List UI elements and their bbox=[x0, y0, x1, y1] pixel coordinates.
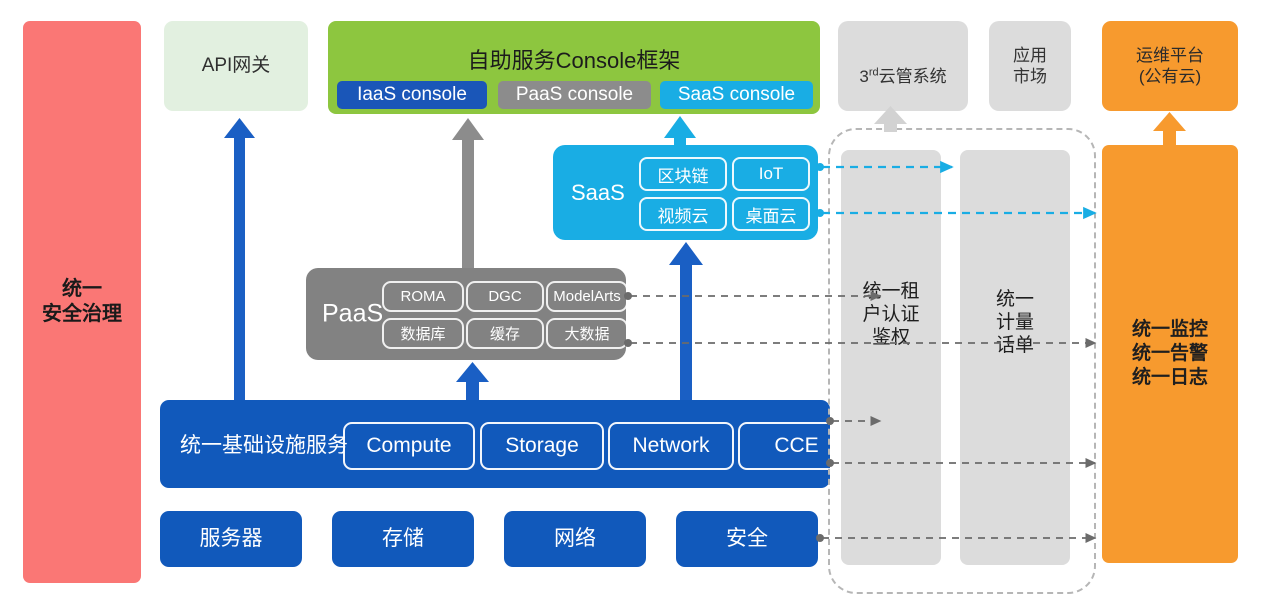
saas-item-video-cloud[interactable]: 视频云 bbox=[639, 197, 727, 231]
arrow-ops-panel-to-ops-platform bbox=[1153, 112, 1186, 146]
app-market-box: 应用 市场 bbox=[989, 21, 1071, 111]
saas-item-blockchain[interactable]: 区块链 bbox=[639, 157, 727, 191]
third-party-cloud-management-label: 3rd云管系统 bbox=[859, 45, 946, 88]
paas-item-label: DGC bbox=[488, 288, 521, 305]
base-item-label: 服务器 bbox=[200, 526, 263, 552]
paas-item-dgc[interactable]: DGC bbox=[466, 281, 544, 312]
base-item-server[interactable]: 服务器 bbox=[160, 511, 302, 567]
paas-item-cache[interactable]: 缓存 bbox=[466, 318, 544, 349]
shared-service-metering-label: 统一 计量 话单 bbox=[960, 288, 1070, 358]
saas-layer-box: SaaS 区块链 IoT 视频云 桌面云 bbox=[553, 145, 818, 240]
paas-item-database[interactable]: 数据库 bbox=[382, 318, 464, 349]
paas-item-roma[interactable]: ROMA bbox=[382, 281, 464, 312]
infra-item-label: Network bbox=[632, 434, 709, 458]
api-gateway-box: API网关 bbox=[164, 21, 308, 111]
paas-console-label: PaaS console bbox=[516, 84, 633, 106]
paas-layer-label: PaaS bbox=[322, 300, 383, 329]
saas-item-label: 桌面云 bbox=[746, 202, 797, 227]
api-gateway-label: API网关 bbox=[202, 54, 271, 78]
infra-item-label: Compute bbox=[366, 434, 451, 458]
iaas-console-chip[interactable]: IaaS console bbox=[337, 81, 487, 109]
arrow-infra-to-paas bbox=[456, 362, 489, 400]
saas-console-chip[interactable]: SaaS console bbox=[660, 81, 813, 109]
shared-service-auth-label: 统一租 户认证 鉴权 bbox=[841, 280, 941, 350]
unified-security-governance-label: 统一 安全治理 bbox=[42, 277, 122, 327]
paas-item-label: 缓存 bbox=[490, 323, 520, 344]
infra-item-storage[interactable]: Storage bbox=[480, 422, 604, 470]
third-party-suffix: 云管系统 bbox=[879, 67, 947, 86]
arrow-infra-to-saas bbox=[669, 242, 703, 400]
base-item-label: 安全 bbox=[726, 526, 768, 552]
arrow-infra-to-api-gateway bbox=[224, 118, 255, 400]
saas-console-label: SaaS console bbox=[678, 84, 795, 106]
arrow-saas-to-saas-console bbox=[664, 116, 696, 148]
third-party-cloud-management-box: 3rd云管系统 bbox=[838, 21, 968, 111]
base-item-storage[interactable]: 存储 bbox=[332, 511, 474, 567]
saas-item-label: IoT bbox=[759, 164, 784, 184]
third-party-prefix: 3 bbox=[859, 67, 868, 86]
paas-console-chip[interactable]: PaaS console bbox=[498, 81, 651, 109]
infra-item-label: Storage bbox=[505, 434, 579, 458]
paas-item-label: ModelArts bbox=[553, 288, 621, 305]
unified-monitoring-panel: 统一监控 统一告警 统一日志 bbox=[1102, 145, 1238, 563]
shared-service-band-auth bbox=[841, 150, 941, 565]
paas-item-label: ROMA bbox=[401, 288, 446, 305]
architecture-diagram: 统一 安全治理 API网关 自助服务Console框架 IaaS console… bbox=[0, 0, 1265, 605]
arrow-paas-to-console bbox=[452, 118, 484, 268]
ops-platform-label: 运维平台 (公有云) bbox=[1136, 45, 1204, 88]
base-item-label: 存储 bbox=[382, 526, 424, 552]
paas-item-modelarts[interactable]: ModelArts bbox=[546, 281, 628, 312]
infra-item-network[interactable]: Network bbox=[608, 422, 734, 470]
base-item-label: 网络 bbox=[554, 526, 596, 552]
paas-item-bigdata[interactable]: 大数据 bbox=[546, 318, 628, 349]
unified-security-governance-panel: 统一 安全治理 bbox=[23, 21, 141, 583]
app-market-label: 应用 市场 bbox=[1013, 45, 1047, 88]
base-item-security[interactable]: 安全 bbox=[676, 511, 818, 567]
unified-infrastructure-service-box: 统一基础设施服务 Compute Storage Network CCE bbox=[160, 400, 830, 488]
saas-item-label: 区块链 bbox=[658, 162, 709, 187]
saas-layer-label: SaaS bbox=[571, 180, 625, 206]
paas-item-label: 数据库 bbox=[400, 323, 445, 344]
paas-layer-box: PaaS ROMA DGC ModelArts 数据库 缓存 大数据 bbox=[306, 268, 626, 360]
ops-platform-public-cloud-box: 运维平台 (公有云) bbox=[1102, 21, 1238, 111]
iaas-console-label: IaaS console bbox=[357, 84, 467, 106]
infra-item-compute[interactable]: Compute bbox=[343, 422, 475, 470]
infra-item-label: CCE bbox=[774, 434, 818, 458]
third-party-sup: rd bbox=[869, 66, 879, 78]
saas-item-desktop-cloud[interactable]: 桌面云 bbox=[732, 197, 810, 231]
base-item-network[interactable]: 网络 bbox=[504, 511, 646, 567]
unified-infrastructure-label: 统一基础设施服务 bbox=[180, 429, 348, 459]
saas-item-label: 视频云 bbox=[658, 202, 709, 227]
unified-monitoring-label: 统一监控 统一告警 统一日志 bbox=[1132, 318, 1208, 389]
paas-item-label: 大数据 bbox=[564, 323, 609, 344]
self-service-console-frame: 自助服务Console框架 IaaS console PaaS console … bbox=[328, 21, 820, 114]
console-frame-title: 自助服务Console框架 bbox=[328, 43, 820, 75]
saas-item-iot[interactable]: IoT bbox=[732, 157, 810, 191]
